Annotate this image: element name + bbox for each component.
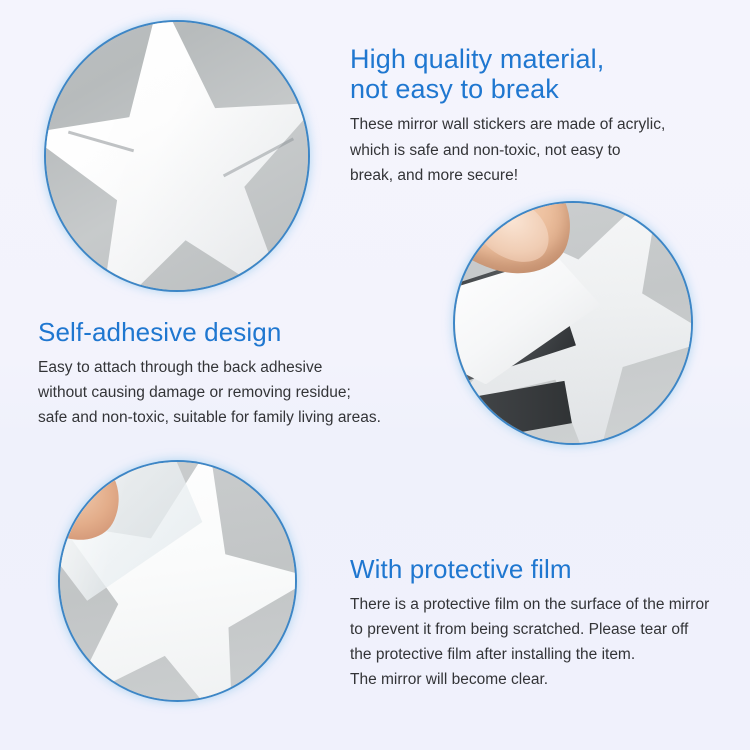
body-line: The mirror will become clear. xyxy=(350,671,548,688)
feature-body: There is a protective film on the surfac… xyxy=(350,592,720,692)
feature-heading: Self-adhesive design xyxy=(38,318,428,347)
body-line: without causing damage or removing resid… xyxy=(38,384,351,401)
heading-line: With protective film xyxy=(350,554,572,584)
body-line: which is safe and non-toxic, not easy to xyxy=(350,142,621,159)
feature-body: Easy to attach through the back adhesive… xyxy=(38,355,398,430)
photo-2-content xyxy=(455,203,691,443)
heading-line: High quality material, xyxy=(350,44,604,74)
body-line: These mirror wall stickers are made of a… xyxy=(350,116,665,133)
feature-heading: With protective film xyxy=(350,555,740,584)
feature-block-with-protective-film: With protective film There is a protecti… xyxy=(350,555,740,693)
infographic-stage: High quality material, not easy to break… xyxy=(0,0,750,750)
body-line: safe and non-toxic, suitable for family … xyxy=(38,409,381,426)
feature-heading: High quality material, not easy to break xyxy=(350,44,730,104)
photo-3-content xyxy=(60,462,295,700)
feature-body: These mirror wall stickers are made of a… xyxy=(350,112,680,187)
body-line: the protective film after installing the… xyxy=(350,646,635,663)
photo-with-protective-film xyxy=(60,462,295,700)
heading-line: not easy to break xyxy=(350,74,559,104)
feature-block-high-quality-material: High quality material, not easy to break… xyxy=(350,44,730,188)
body-line: to prevent it from being scratched. Plea… xyxy=(350,621,688,638)
heading-line: Self-adhesive design xyxy=(38,317,281,347)
photo-self-adhesive-design xyxy=(455,203,691,443)
photo-1-content xyxy=(46,22,308,290)
feature-block-self-adhesive-design: Self-adhesive design Easy to attach thro… xyxy=(38,318,428,430)
body-line: Easy to attach through the back adhesive xyxy=(38,359,322,376)
photo-high-quality-material xyxy=(46,22,308,290)
body-line: break, and more secure! xyxy=(350,167,518,184)
body-line: There is a protective film on the surfac… xyxy=(350,596,709,613)
